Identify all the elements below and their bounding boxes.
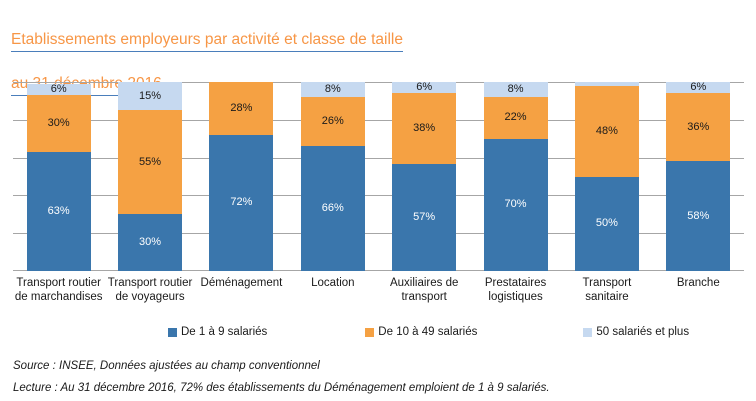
bar-segment[interactable]: 58% xyxy=(666,161,730,271)
bars-layer: 6%30%63%15%55%30%28%72%8%26%66%6%38%57%8… xyxy=(13,82,744,271)
stacked-bar[interactable]: 6%36%58% xyxy=(666,82,730,271)
bar-segment[interactable]: 26% xyxy=(301,97,365,146)
bar-segment[interactable]: 6% xyxy=(27,84,91,95)
bar-segment[interactable]: 63% xyxy=(27,152,91,271)
stacked-bar[interactable]: 6%38%57% xyxy=(392,82,456,271)
bar-slot: 28%72% xyxy=(196,82,287,271)
bar-segment-label: 70% xyxy=(505,199,527,210)
bar-segment[interactable]: 72% xyxy=(209,135,273,271)
bar-segment[interactable]: 28% xyxy=(209,82,273,135)
bar-segment-label: 36% xyxy=(687,122,709,133)
bar-segment[interactable]: 15% xyxy=(118,82,182,110)
category-label: Déménagement xyxy=(196,276,287,304)
bar-segment-label: 22% xyxy=(505,112,527,123)
bar-segment[interactable]: 70% xyxy=(484,139,548,271)
bar-slot: 6%38%57% xyxy=(379,82,470,271)
bar-segment[interactable]: 30% xyxy=(118,214,182,271)
legend-swatch-icon xyxy=(365,328,374,337)
legend-label: De 1 à 9 salariés xyxy=(181,326,267,338)
bar-segment-label: 30% xyxy=(48,118,70,129)
bar-segment-label: 63% xyxy=(48,206,70,217)
bar-segment-label: 8% xyxy=(508,84,524,95)
footnotes: Source : INSEE, Données ajustées au cham… xyxy=(13,355,753,399)
bar-segment-label: 6% xyxy=(416,82,432,93)
legend-swatch-icon xyxy=(583,328,592,337)
chart-legend: De 1 à 9 salariésDe 10 à 49 salariés50 s… xyxy=(13,326,744,338)
legend-label: 50 salariés et plus xyxy=(596,326,689,338)
bar-slot: 48%50% xyxy=(561,82,652,271)
bar-segment-label: 38% xyxy=(413,123,435,134)
bar-segment-label: 66% xyxy=(322,203,344,214)
stacked-bar[interactable]: 8%22%70% xyxy=(484,82,548,271)
bar-slot: 8%26%66% xyxy=(287,82,378,271)
bar-segment[interactable]: 8% xyxy=(301,82,365,97)
stacked-bar[interactable]: 8%26%66% xyxy=(301,82,365,271)
stacked-bar[interactable]: 28%72% xyxy=(209,82,273,271)
bar-slot: 6%30%63% xyxy=(13,82,104,271)
lecture-note: Lecture : Au 31 décembre 2016, 72% des é… xyxy=(13,377,753,399)
bar-segment[interactable]: 50% xyxy=(575,177,639,272)
legend-label: De 10 à 49 salariés xyxy=(378,326,477,338)
bar-segment[interactable]: 30% xyxy=(27,95,91,152)
category-label: Branche xyxy=(653,276,744,304)
bar-segment-label: 15% xyxy=(139,91,161,102)
bar-segment-label: 58% xyxy=(687,211,709,222)
bar-segment-label: 55% xyxy=(139,157,161,168)
stacked-bar[interactable]: 48%50% xyxy=(575,82,639,271)
bar-segment[interactable]: 6% xyxy=(392,82,456,93)
legend-item[interactable]: De 10 à 49 salariés xyxy=(365,326,477,338)
x-axis-category-labels: Transport routier de marchandisesTranspo… xyxy=(13,276,744,304)
bar-segment-label: 28% xyxy=(230,103,252,114)
bar-segment[interactable]: 8% xyxy=(484,82,548,97)
bar-segment[interactable]: 48% xyxy=(575,86,639,177)
bar-segment-label: 6% xyxy=(690,82,706,93)
category-label: Transport routier de voyageurs xyxy=(104,276,195,304)
bar-slot: 15%55%30% xyxy=(104,82,195,271)
bar-segment[interactable]: 66% xyxy=(301,146,365,271)
bar-segment[interactable]: 57% xyxy=(392,164,456,271)
bar-segment[interactable]: 6% xyxy=(666,82,730,93)
bar-segment-label: 8% xyxy=(325,84,341,95)
page-title-line1: Etablissements employeurs par activité e… xyxy=(11,29,403,52)
bar-segment[interactable]: 55% xyxy=(118,110,182,214)
bar-segment-label: 48% xyxy=(596,126,618,137)
stacked-bar[interactable]: 15%55%30% xyxy=(118,82,182,271)
legend-item[interactable]: De 1 à 9 salariés xyxy=(168,326,267,338)
legend-swatch-icon xyxy=(168,328,177,337)
category-label: Location xyxy=(287,276,378,304)
bar-slot: 6%36%58% xyxy=(653,82,744,271)
stacked-bar[interactable]: 6%30%63% xyxy=(27,82,91,271)
legend-item[interactable]: 50 salariés et plus xyxy=(583,326,689,338)
category-label: Prestataires logistiques xyxy=(470,276,561,304)
source-note: Source : INSEE, Données ajustées au cham… xyxy=(13,355,753,377)
category-label: Transport sanitaire xyxy=(561,276,652,304)
bar-segment-label: 30% xyxy=(139,237,161,248)
category-label: Auxiliaires de transport xyxy=(379,276,470,304)
bar-segment-label: 72% xyxy=(230,197,252,208)
bar-slot: 8%22%70% xyxy=(470,82,561,271)
bar-segment[interactable]: 36% xyxy=(666,93,730,161)
category-label: Transport routier de marchandises xyxy=(13,276,104,304)
bar-segment-label: 26% xyxy=(322,116,344,127)
bar-segment-label: 6% xyxy=(51,84,67,95)
bar-segment-label: 57% xyxy=(413,212,435,223)
bar-segment-label: 50% xyxy=(596,218,618,229)
bar-segment[interactable]: 22% xyxy=(484,97,548,139)
bar-segment[interactable]: 38% xyxy=(392,93,456,164)
